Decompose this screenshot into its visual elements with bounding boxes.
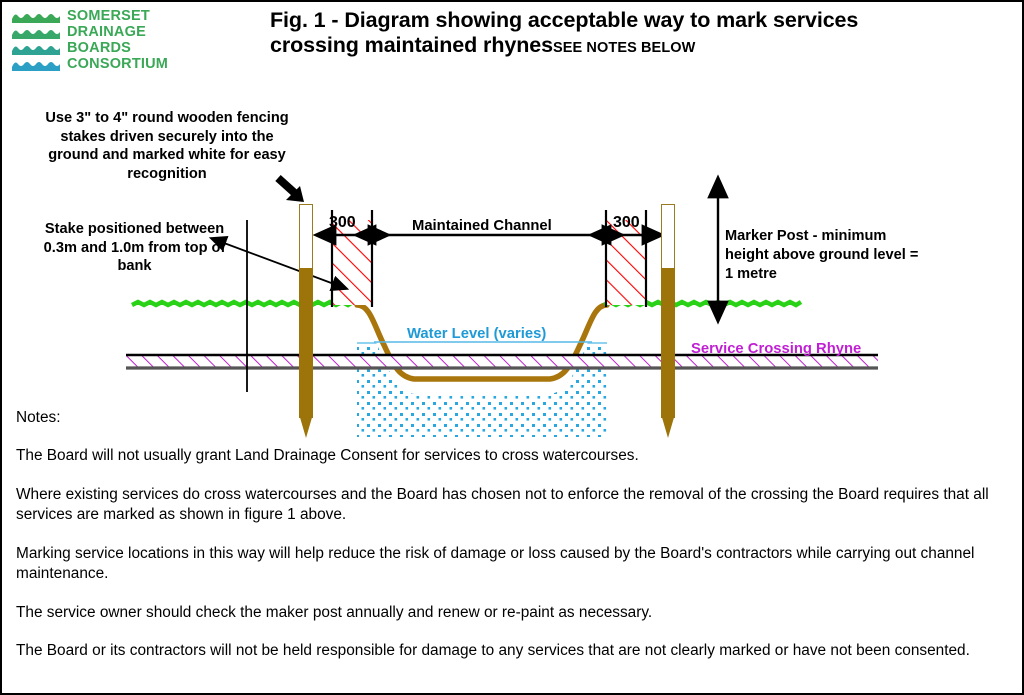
left-stake-white-top [299,204,313,270]
figure-page: SOMERSET DRAINAGE BOARDS CONSORTIUM Fig.… [0,0,1024,695]
logo-line: BOARDS [12,40,187,56]
note-paragraph: Where existing services do cross waterco… [16,485,1006,526]
left-stake-body [299,268,313,418]
stake-callout-arrow [278,178,304,202]
title-line-2: crossing maintained rhynes [270,33,553,57]
logo-word-drainage: DRAINAGE [67,26,146,39]
stake-position-leader-arrow [224,243,334,284]
logo-word-boards: BOARDS [67,42,131,55]
wave-icon [12,10,60,23]
grass-line-left [132,302,353,305]
logo-line: SOMERSET [12,8,187,24]
consortium-logo: SOMERSET DRAINAGE BOARDS CONSORTIUM [12,8,187,74]
right-stake-white-top [661,204,675,270]
logo-line: CONSORTIUM [12,56,187,72]
diagram-canvas [2,92,1024,452]
notes-section: Notes: The Board will not usually grant … [16,408,1006,662]
label-water-level: Water Level (varies) [407,326,546,342]
wave-icon [12,42,60,55]
logo-word-somerset: SOMERSET [67,10,150,23]
wave-icon [12,58,60,71]
label-dimension-right-300: 300 [613,214,640,232]
logo-word-consortium: CONSORTIUM [67,58,168,71]
notes-heading: Notes: [16,408,1006,428]
figure-title: Fig. 1 - Diagram showing acceptable way … [270,8,950,61]
title-suffix: SEE NOTES BELOW [553,40,696,56]
note-paragraph: Marking service locations in this way wi… [16,544,1006,585]
logo-line: DRAINAGE [12,24,187,40]
note-paragraph: The Board or its contractors will not be… [16,641,1006,662]
label-maintained-channel: Maintained Channel [412,218,552,234]
wave-icon [12,26,60,39]
note-paragraph: The Board will not usually grant Land Dr… [16,446,1006,467]
right-stake-body [661,268,675,418]
label-dimension-left-300: 300 [329,214,356,232]
label-service-crossing-rhyne: Service Crossing Rhyne [691,341,861,357]
title-line-1: Fig. 1 - Diagram showing acceptable way … [270,8,858,32]
note-paragraph: The service owner should check the maker… [16,603,1006,624]
